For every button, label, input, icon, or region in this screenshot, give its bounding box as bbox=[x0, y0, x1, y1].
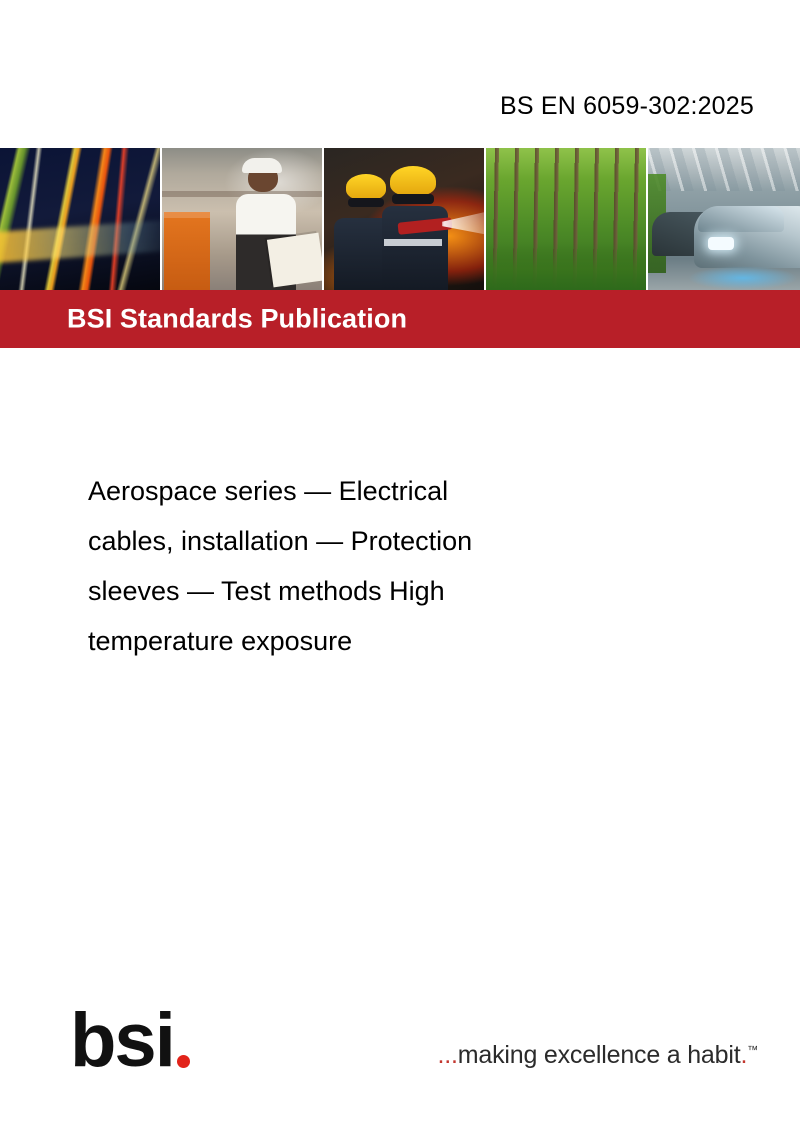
car-windscreen bbox=[698, 206, 784, 232]
photo-panel-firefighters bbox=[324, 148, 486, 290]
title-line-2: cables, installation — Protection bbox=[88, 516, 628, 566]
tagline-ellipsis: ... bbox=[438, 1041, 458, 1069]
photo-panel-car-production-line bbox=[648, 148, 800, 290]
publication-title: Aerospace series — Electrical cables, in… bbox=[88, 466, 628, 666]
firefighter-reflective-stripe bbox=[384, 239, 442, 246]
bsi-logo: bsi bbox=[70, 1008, 190, 1072]
firefighter-visor-right bbox=[392, 194, 434, 204]
factory-ceiling-lights bbox=[648, 148, 800, 191]
bsi-standards-banner: BSI Standards Publication bbox=[0, 290, 800, 348]
water-spray bbox=[442, 210, 486, 236]
tagline-text: making excellence a habit bbox=[458, 1041, 741, 1069]
photo-panel-warehouse-worker bbox=[162, 148, 324, 290]
car-floor-glow bbox=[688, 266, 798, 290]
title-line-1: Aerospace series — Electrical bbox=[88, 466, 628, 516]
photo-strip bbox=[0, 148, 800, 290]
car-headlight bbox=[708, 237, 734, 250]
banner-label: BSI Standards Publication bbox=[67, 304, 407, 335]
worker-cap bbox=[242, 158, 282, 173]
warehouse-box bbox=[267, 233, 324, 288]
bsi-logo-dot-icon bbox=[177, 1055, 190, 1068]
firefighter-helmet-right bbox=[390, 166, 436, 196]
firefighter-visor-left bbox=[348, 198, 384, 207]
warehouse-crate bbox=[164, 212, 210, 290]
firefighter-helmet-left bbox=[346, 174, 386, 200]
title-line-3: sleeves — Test methods High bbox=[88, 566, 628, 616]
photo-panel-forest bbox=[486, 148, 648, 290]
trademark-icon: ™ bbox=[747, 1045, 758, 1057]
bsi-logo-wordmark: bsi bbox=[70, 1010, 174, 1072]
photo-panel-night-light-trails bbox=[0, 148, 162, 290]
title-line-4: temperature exposure bbox=[88, 616, 628, 666]
bsi-tagline: ...making excellence a habit.™ bbox=[438, 1041, 758, 1070]
document-page: BS EN 6059-302:2025 bbox=[0, 0, 800, 1132]
standard-number: BS EN 6059-302:2025 bbox=[500, 92, 754, 121]
